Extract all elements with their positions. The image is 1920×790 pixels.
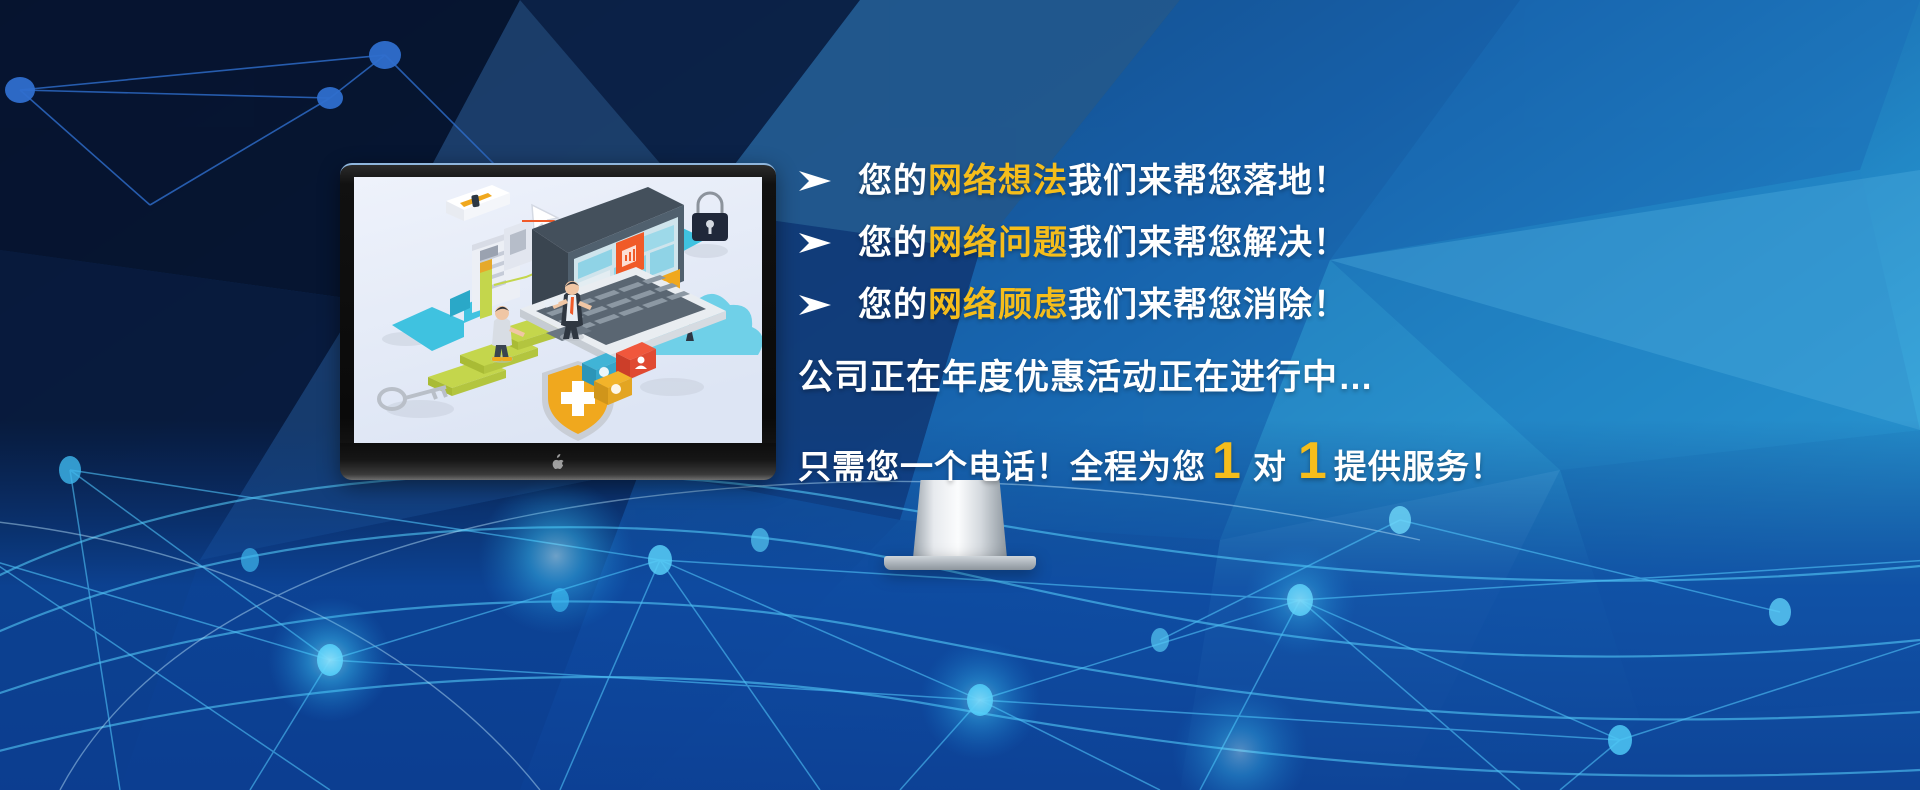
bullet-3-pre: 您的	[858, 286, 928, 324]
isometric-scene	[354, 177, 762, 443]
monitor-neck	[913, 480, 1007, 558]
bullet-text-1: 您的网络想法我们来帮您落地！	[858, 164, 1348, 198]
bullet-3-post: 我们来帮您消除！	[1068, 286, 1348, 324]
apple-logo-icon	[552, 454, 565, 469]
arrow-bullet-icon	[798, 294, 832, 316]
bullet-2-post: 我们来帮您解决！	[1068, 224, 1348, 262]
bullet-item-3: 您的网络顾虑我们来帮您消除！	[798, 274, 1848, 336]
bullet-text-2: 您的网络问题我们来帮您解决！	[858, 226, 1348, 260]
bullet-item-1: 您的网络想法我们来帮您落地！	[798, 150, 1848, 212]
arrow-bullet-icon	[798, 170, 832, 192]
cta-line: 只需您一个电话！全程为您 1 对 1 提供服务！	[798, 435, 1848, 487]
arrow-bullet-icon	[798, 232, 832, 254]
cta-tail: 提供服务！	[1334, 450, 1504, 483]
bullet-1-pre: 您的	[858, 162, 928, 200]
bullet-3-highlight: 网络顾虑	[928, 286, 1068, 324]
cta-lead: 只需您一个电话！全程为您	[798, 450, 1206, 483]
cta-number-first: 1	[1206, 435, 1248, 487]
bullet-2-pre: 您的	[858, 224, 928, 262]
promo-line: 公司正在年度优惠活动正在进行中…	[798, 360, 1848, 395]
bullet-item-2: 您的网络问题我们来帮您解决！	[798, 212, 1848, 274]
bullet-1-post: 我们来帮您落地！	[1068, 162, 1348, 200]
banner-copy: 您的网络想法我们来帮您落地！ 您的网络问题我们来帮您解决！ 您的网络顾虑我们来帮…	[798, 150, 1848, 487]
isometric-illustration	[354, 177, 762, 443]
cta-separator: 对	[1248, 450, 1292, 483]
bullet-text-3: 您的网络顾虑我们来帮您消除！	[858, 288, 1348, 322]
monitor-chin	[340, 443, 776, 480]
promotional-banner: 您的网络想法我们来帮您落地！ 您的网络问题我们来帮您解决！ 您的网络顾虑我们来帮…	[0, 0, 1920, 790]
imac-monitor-illustration	[340, 163, 776, 480]
bullet-2-highlight: 网络问题	[928, 224, 1068, 262]
cta-number-second: 1	[1292, 435, 1334, 487]
monitor-base	[884, 556, 1036, 570]
monitor-screen	[354, 177, 762, 443]
bullet-1-highlight: 网络想法	[928, 162, 1068, 200]
